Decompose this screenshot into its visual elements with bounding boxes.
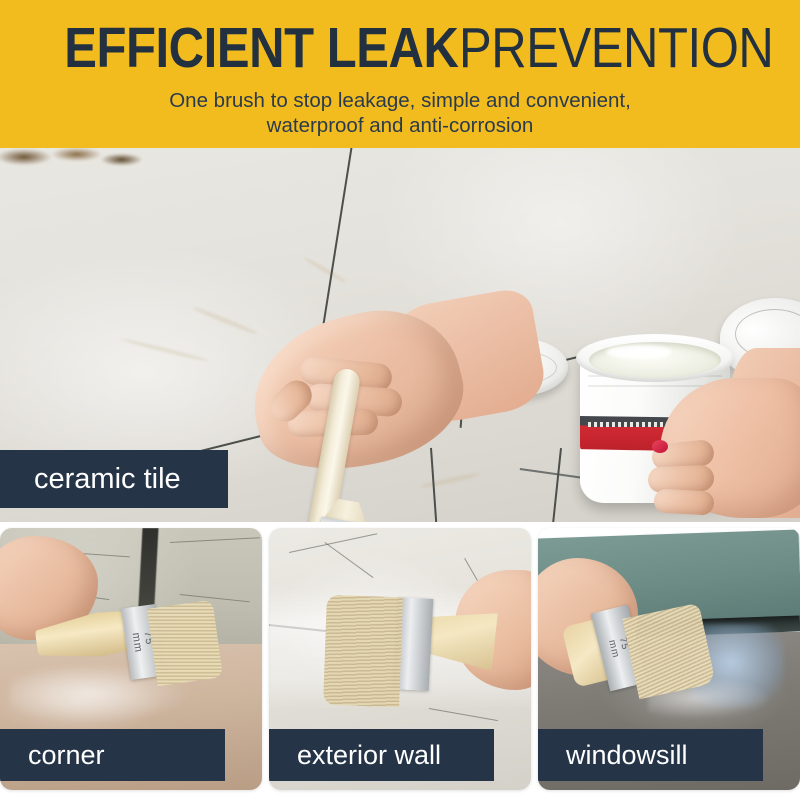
sealant-gloss-highlight [606,345,672,359]
thumbnail-row: 75 mm corner exterior wal [0,528,800,794]
thumbnail-corner[interactable]: 75 mm corner [0,528,262,790]
brush-bristles [147,600,223,686]
thumbnail-exterior-wall[interactable]: exterior wall [269,528,531,790]
thumbnail-windowsill[interactable]: 75 mm windowsill [538,528,800,790]
subtitle-line-2: waterproof and anti-corrosion [0,113,800,138]
floor-debris [0,148,144,170]
page-title: EFFICIENT LEAKPREVENTION [0,20,800,77]
subtitle-line-1: One brush to stop leakage, simple and co… [0,88,800,113]
fingernail [652,440,668,453]
hero-photo-ceramic-tile: ceramic tile [0,148,800,522]
brush-bristles [622,603,715,699]
thumbnail-label-windowsill: windowsill [538,729,763,781]
brush-bristles [323,595,403,708]
subtitle: One brush to stop leakage, simple and co… [0,88,800,138]
thumbnail-label-exterior-wall: exterior wall [269,729,494,781]
finger [653,488,714,515]
promo-banner: EFFICIENT LEAKPREVENTION One brush to st… [0,0,800,800]
title-bold-part: EFFICIENT LEAK [64,20,458,77]
header-banner: EFFICIENT LEAKPREVENTION One brush to st… [0,0,800,148]
hero-label-ceramic-tile: ceramic tile [0,450,228,508]
title-light-part: PREVENTION [459,20,773,77]
thumbnail-label-corner: corner [0,729,225,781]
